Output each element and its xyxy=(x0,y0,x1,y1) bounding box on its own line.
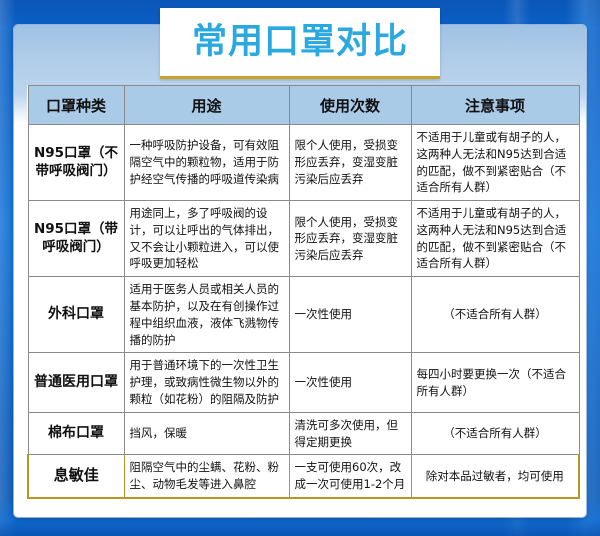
comparison-table-wrapper: 口罩种类 用途 使用次数 注意事项 N95口罩（不带呼吸阀门）一种呼吸防护设备，… xyxy=(27,85,578,499)
table-row: N95口罩（带呼吸阀门）用途同上，多了呼吸阀的设计，可以让呼出的气体排出，又不会… xyxy=(28,201,579,277)
title-banner: 常用口罩对比 xyxy=(160,8,440,79)
cell-notes: 不适用于儿童或有胡子的人，这两种人无法和N95达到合适的匹配，做不到紧密贴合（不… xyxy=(411,125,579,201)
column-header-kind: 口罩种类 xyxy=(28,86,124,125)
table-row: 普通医用口罩用于普通环境下的一次性卫生护理，或致病性微生物以外的颗粒（如花粉）的… xyxy=(28,353,579,412)
column-header-times: 使用次数 xyxy=(289,86,411,125)
cell-mask-kind: 棉布口罩 xyxy=(28,412,124,455)
table-header: 口罩种类 用途 使用次数 注意事项 xyxy=(28,86,579,125)
cell-notes: （不适合所有人群） xyxy=(411,277,579,353)
table-row: 外科口罩适用于医务人员或相关人员的基本防护，以及在有创操作过程中组织血液，液体飞… xyxy=(28,277,579,353)
cell-notes: （不适合所有人群） xyxy=(411,412,579,455)
cell-usage: 阻隔空气中的尘螨、花粉、粉尘、动物毛发等进入鼻腔 xyxy=(124,455,289,498)
table-body: N95口罩（不带呼吸阀门）一种呼吸防护设备，可有效阻隔空气中的颗粒物，适用于防护… xyxy=(28,125,579,498)
table-row: N95口罩（不带呼吸阀门）一种呼吸防护设备，可有效阻隔空气中的颗粒物，适用于防护… xyxy=(28,125,579,201)
cell-usage: 用于普通环境下的一次性卫生护理，或致病性微生物以外的颗粒（如花粉）的阻隔及防护 xyxy=(124,353,289,412)
cell-notes: 不适用于儿童或有胡子的人，这两种人无法和N95达到合适的匹配，做不到紧密贴合（不… xyxy=(411,201,579,277)
mask-comparison-table: 口罩种类 用途 使用次数 注意事项 N95口罩（不带呼吸阀门）一种呼吸防护设备，… xyxy=(27,85,580,499)
cell-usage-times: 一次性使用 xyxy=(289,277,411,353)
cell-notes: 除对本品过敏者，均可使用 xyxy=(411,455,579,498)
cell-usage-times: 限个人使用，受损变形应丢弃，变湿变脏污染后应丢弃 xyxy=(289,201,411,277)
cell-usage-times: 清洗可多次使用，但得定期更换 xyxy=(289,412,411,455)
cell-usage-times: 一次性使用 xyxy=(289,353,411,412)
cell-mask-kind: N95口罩（不带呼吸阀门） xyxy=(28,125,124,201)
cell-usage: 挡风，保暖 xyxy=(124,412,289,455)
cell-usage: 一种呼吸防护设备，可有效阻隔空气中的颗粒物，适用于防护经空气传播的呼吸道传染病 xyxy=(124,125,289,201)
cell-usage: 用途同上，多了呼吸阀的设计，可以让呼出的气体排出，又不会让小颗粒进入，可以使呼吸… xyxy=(124,201,289,277)
cell-usage-times: 一支可使用60次，改成一次可使用1-2个月 xyxy=(289,455,411,498)
column-header-use: 用途 xyxy=(124,86,289,125)
column-header-note: 注意事项 xyxy=(411,86,579,125)
table-row: 息敏佳阻隔空气中的尘螨、花粉、粉尘、动物毛发等进入鼻腔一支可使用60次，改成一次… xyxy=(28,455,579,498)
table-row: 棉布口罩挡风，保暖清洗可多次使用，但得定期更换（不适合所有人群） xyxy=(28,412,579,455)
cell-notes: 每四小时要更换一次（不适合所有人群） xyxy=(411,353,579,412)
poster-background: 常用口罩对比 口罩种类 用途 使用次数 注意事项 N95口罩（不带呼吸阀门）一种… xyxy=(0,0,600,536)
cell-mask-kind: 普通医用口罩 xyxy=(28,353,124,412)
table-header-row: 口罩种类 用途 使用次数 注意事项 xyxy=(28,86,579,125)
page-title: 常用口罩对比 xyxy=(192,25,408,60)
cell-usage: 适用于医务人员或相关人员的基本防护，以及在有创操作过程中组织血液，液体飞溅物传播… xyxy=(124,277,289,353)
cell-mask-kind: N95口罩（带呼吸阀门） xyxy=(28,201,124,277)
cell-mask-kind: 息敏佳 xyxy=(28,455,124,498)
cell-usage-times: 限个人使用，受损变形应丢弃，变湿变脏污染后应丢弃 xyxy=(289,125,411,201)
cell-mask-kind: 外科口罩 xyxy=(28,277,124,353)
